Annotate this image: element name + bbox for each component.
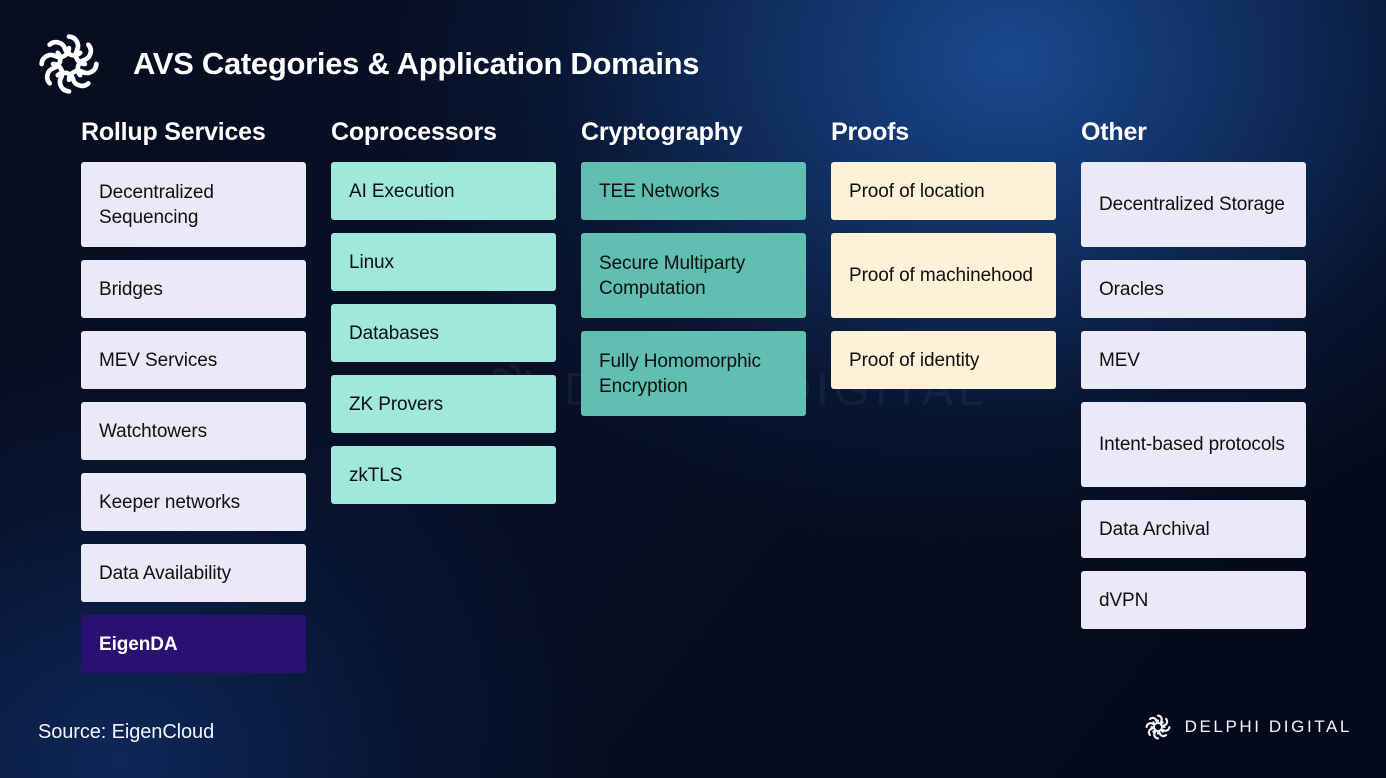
- card-keeper-networks[interactable]: Keeper networks: [81, 473, 306, 531]
- card-list: Decentralized Storage Oracles MEV Intent…: [1081, 162, 1306, 629]
- card-secure-multiparty-computation[interactable]: Secure Multiparty Computation: [581, 233, 806, 318]
- column-header: Coprocessors: [331, 116, 581, 148]
- column-header: Cryptography: [581, 116, 831, 148]
- slide-canvas: DELPHI DIGITAL AVS Categories & Applicat…: [0, 0, 1386, 778]
- card-mev-services[interactable]: MEV Services: [81, 331, 306, 389]
- card-intent-based-protocols[interactable]: Intent-based protocols: [1081, 402, 1306, 487]
- card-list: TEE Networks Secure Multiparty Computati…: [581, 162, 831, 416]
- column-other: Other Decentralized Storage Oracles MEV …: [1081, 116, 1306, 673]
- page-title: AVS Categories & Application Domains: [133, 46, 699, 82]
- column-header: Other: [1081, 116, 1306, 148]
- footer-brand: DELPHI DIGITAL: [1143, 712, 1352, 742]
- column-coprocessors: Coprocessors AI Execution Linux Database…: [331, 116, 581, 673]
- category-columns: Rollup Services Decentralized Sequencing…: [81, 116, 1311, 673]
- card-proof-of-machinehood[interactable]: Proof of machinehood: [831, 233, 1056, 318]
- card-decentralized-storage[interactable]: Decentralized Storage: [1081, 162, 1306, 247]
- card-proof-of-location[interactable]: Proof of location: [831, 162, 1056, 220]
- card-proof-of-identity[interactable]: Proof of identity: [831, 331, 1056, 389]
- header: AVS Categories & Application Domains: [33, 28, 699, 100]
- card-decentralized-sequencing[interactable]: Decentralized Sequencing: [81, 162, 306, 247]
- card-list: Proof of location Proof of machinehood P…: [831, 162, 1081, 389]
- card-zktls[interactable]: zkTLS: [331, 446, 556, 504]
- card-ai-execution[interactable]: AI Execution: [331, 162, 556, 220]
- card-databases[interactable]: Databases: [331, 304, 556, 362]
- card-watchtowers[interactable]: Watchtowers: [81, 402, 306, 460]
- source-note: Source: EigenCloud: [38, 721, 214, 744]
- delphi-knot-logo-icon: [1143, 712, 1173, 742]
- column-cryptography: Cryptography TEE Networks Secure Multipa…: [581, 116, 831, 673]
- card-data-archival[interactable]: Data Archival: [1081, 500, 1306, 558]
- card-bridges[interactable]: Bridges: [81, 260, 306, 318]
- card-list: Decentralized Sequencing Bridges MEV Ser…: [81, 162, 331, 673]
- card-fully-homomorphic-encryption[interactable]: Fully Homomorphic Encryption: [581, 331, 806, 416]
- footer-brand-text: DELPHI DIGITAL: [1185, 717, 1352, 737]
- column-rollup-services: Rollup Services Decentralized Sequencing…: [81, 116, 331, 673]
- card-mev[interactable]: MEV: [1081, 331, 1306, 389]
- card-oracles[interactable]: Oracles: [1081, 260, 1306, 318]
- delphi-knot-logo-icon: [33, 28, 105, 100]
- column-proofs: Proofs Proof of location Proof of machin…: [831, 116, 1081, 673]
- card-zk-provers[interactable]: ZK Provers: [331, 375, 556, 433]
- card-data-availability[interactable]: Data Availability: [81, 544, 306, 602]
- card-list: AI Execution Linux Databases ZK Provers …: [331, 162, 581, 504]
- card-eigenda[interactable]: EigenDA: [81, 615, 306, 673]
- card-dvpn[interactable]: dVPN: [1081, 571, 1306, 629]
- card-linux[interactable]: Linux: [331, 233, 556, 291]
- card-tee-networks[interactable]: TEE Networks: [581, 162, 806, 220]
- column-header: Proofs: [831, 116, 1081, 148]
- column-header: Rollup Services: [81, 116, 331, 148]
